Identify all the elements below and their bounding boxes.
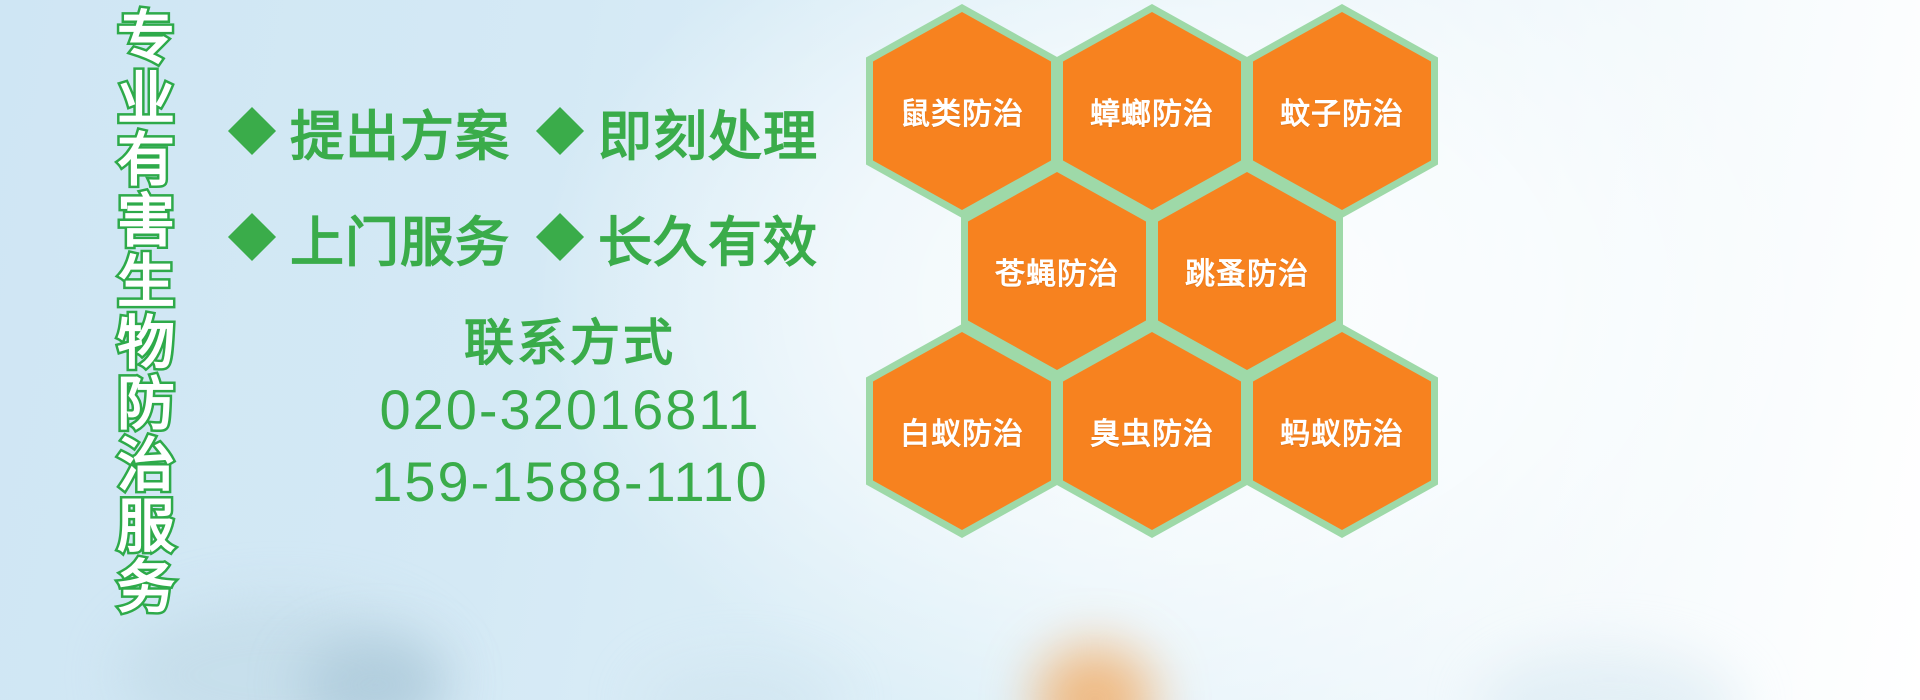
background-blur-blob (300, 640, 450, 700)
diamond-bullet-icon (536, 107, 584, 155)
contact-label: 联系方式 (300, 312, 840, 374)
vertical-headline: 专 业 有 害 生 物 防 治 服 务 (104, 8, 188, 560)
feature-row: 提出方案 即刻处理 (228, 78, 868, 184)
feature-list: 提出方案 即刻处理 上门服务 长久有效 (228, 78, 868, 290)
feature-label: 提出方案 (290, 92, 510, 171)
hex-cell-bedbug-control[interactable]: 臭虫防治 (1056, 324, 1248, 538)
diamond-bullet-icon (228, 213, 276, 261)
diamond-bullet-icon (228, 107, 276, 155)
background-blur-blob (640, 660, 840, 700)
service-honeycomb: 鼠类防治 蟑螂防治 蚊子防治 苍蝇防治 跳蚤防治 白蚁防治 (858, 0, 1478, 575)
hex-cell-ant-control[interactable]: 蚂蚁防治 (1246, 324, 1438, 538)
contact-phone-landline[interactable]: 020-32016811 (300, 374, 840, 446)
vertical-headline-char: 害 (117, 191, 175, 252)
feature-label: 长久有效 (598, 198, 818, 277)
hex-label: 鼠类防治 (900, 89, 1024, 133)
promo-banner: 专 业 有 害 生 物 防 治 服 务 提出方案 即刻处理 上门服务 (0, 0, 1920, 700)
vertical-headline-char: 服 (117, 496, 175, 557)
background-blur-blob (1480, 650, 1740, 700)
hex-label: 蚂蚁防治 (1280, 409, 1404, 453)
diamond-bullet-icon (536, 213, 584, 261)
vertical-headline-char: 生 (117, 252, 175, 313)
feature-label: 上门服务 (290, 198, 510, 277)
feature-label: 即刻处理 (598, 92, 818, 171)
vertical-headline-char: 防 (117, 374, 175, 435)
vertical-headline-char: 有 (117, 130, 175, 191)
hex-label: 臭虫防治 (1090, 409, 1214, 453)
vertical-headline-char: 专 (117, 8, 175, 69)
background-blur-blob (1035, 645, 1155, 700)
vertical-headline-char: 治 (117, 435, 175, 496)
contact-phone-mobile[interactable]: 159-1588-1110 (300, 446, 840, 518)
hex-label: 蚊子防治 (1280, 89, 1404, 133)
feature-item-immediate-handling: 即刻处理 (536, 92, 818, 171)
hex-label: 跳蚤防治 (1185, 249, 1309, 293)
hex-label: 白蚁防治 (900, 409, 1024, 453)
hex-label: 蟑螂防治 (1090, 89, 1214, 133)
hex-cell-termite-control[interactable]: 白蚁防治 (866, 324, 1058, 538)
vertical-headline-char: 务 (117, 557, 175, 618)
contact-block: 联系方式 020-32016811 159-1588-1110 (300, 312, 840, 518)
feature-row: 上门服务 长久有效 (228, 184, 868, 290)
vertical-headline-char: 物 (117, 313, 175, 374)
feature-item-onsite-service: 上门服务 (228, 198, 510, 277)
feature-item-propose-plan: 提出方案 (228, 92, 510, 171)
feature-item-long-lasting: 长久有效 (536, 198, 818, 277)
vertical-headline-char: 业 (117, 69, 175, 130)
hex-label: 苍蝇防治 (995, 249, 1119, 293)
